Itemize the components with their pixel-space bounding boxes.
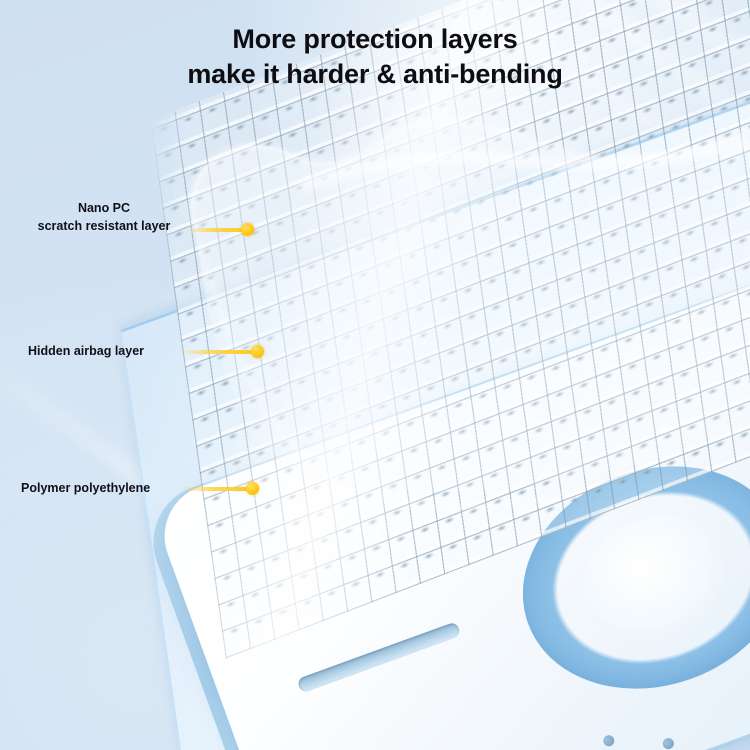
- camera-ring-inner: [564, 495, 746, 659]
- callout-nano-pc-text: Nano PC scratch resistant layer: [14, 200, 194, 236]
- callout-nano-pc-line-2: scratch resistant layer: [38, 219, 171, 233]
- callout-polymer-polyethylene-marker-dot: [246, 482, 259, 495]
- callout-nano-pc-line-1: Nano PC: [78, 201, 130, 215]
- product-graphic-canvas: More protection layers make it harder & …: [0, 0, 750, 750]
- callout-polymer-polyethylene-text: Polymer polyethylene: [21, 480, 150, 498]
- callout-hidden-airbag-marker-dot: [251, 345, 264, 358]
- heading-line-1: More protection layers: [232, 24, 517, 54]
- callout-hidden-airbag-text: Hidden airbag layer: [28, 343, 144, 361]
- page-title: More protection layers make it harder & …: [0, 22, 750, 92]
- callout-hidden-airbag-leader-line: [180, 350, 258, 354]
- callout-polymer-polyethylene-leader-line: [181, 487, 253, 491]
- callout-nano-pc-leader-line: [186, 228, 248, 232]
- callout-nano-pc-marker-dot: [241, 223, 254, 236]
- heading-line-2: make it harder & anti-bending: [0, 57, 750, 92]
